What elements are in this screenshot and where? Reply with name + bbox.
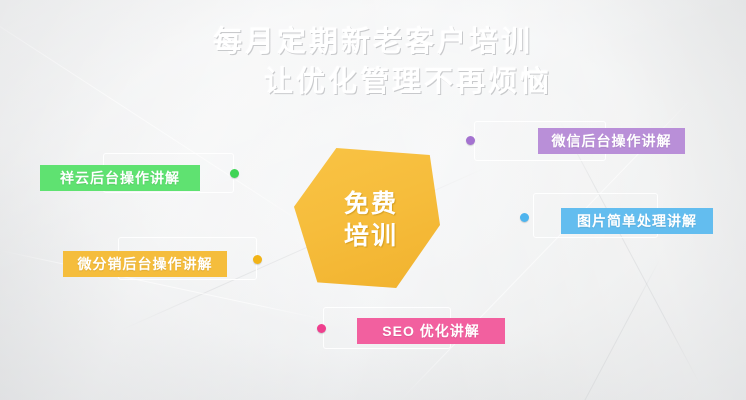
hexagon-label-line-1: 免费 (344, 188, 398, 220)
headline-line-2: 让优化管理不再烦恼 (0, 62, 746, 102)
topic-label-seo[interactable]: SEO 优化讲解 (357, 318, 505, 344)
connector-dot-seo (317, 324, 326, 333)
page-title: 每月定期新老客户培训 让优化管理不再烦恼 (0, 22, 746, 102)
poster-canvas: 每月定期新老客户培训 让优化管理不再烦恼 免费 培训 祥云后台操作讲解 微分销后… (0, 0, 746, 400)
hexagon-label: 免费 培训 (294, 148, 440, 288)
free-training-hexagon[interactable]: 免费 培训 (294, 148, 440, 288)
connector-dot-weixin (466, 136, 475, 145)
topic-label-image-processing[interactable]: 图片简单处理讲解 (561, 208, 713, 234)
connector-dot-image-processing (520, 213, 529, 222)
headline-line-1: 每月定期新老客户培训 (0, 22, 746, 62)
connector-dot-weifenxiao (253, 255, 262, 264)
connector-dot-xiangyun (230, 169, 239, 178)
topic-label-weifenxiao[interactable]: 微分销后台操作讲解 (63, 251, 227, 277)
topic-label-weixin[interactable]: 微信后台操作讲解 (538, 128, 685, 154)
topic-label-xiangyun[interactable]: 祥云后台操作讲解 (40, 165, 200, 191)
hexagon-label-line-2: 培训 (344, 220, 398, 252)
